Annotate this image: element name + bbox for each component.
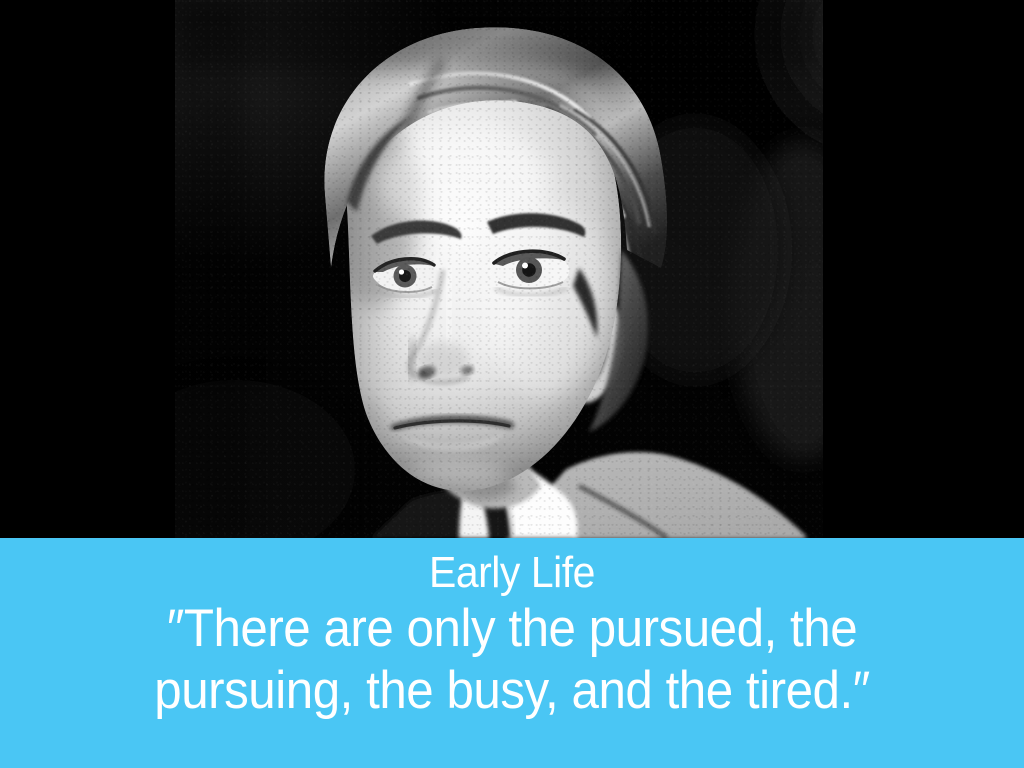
presentation-slide: Early Life ″There are only the pursued, … — [0, 0, 1024, 768]
caption-band: Early Life ″There are only the pursued, … — [0, 538, 1024, 768]
portrait-photo-image — [175, 0, 823, 538]
slide-title: Early Life — [36, 548, 988, 598]
photo-region — [0, 0, 1024, 538]
quote-line-1: ″There are only the pursued, the — [36, 598, 988, 660]
portrait-photo — [175, 0, 823, 538]
quote-line-2: pursuing, the busy, and the tired.″ — [36, 660, 988, 722]
